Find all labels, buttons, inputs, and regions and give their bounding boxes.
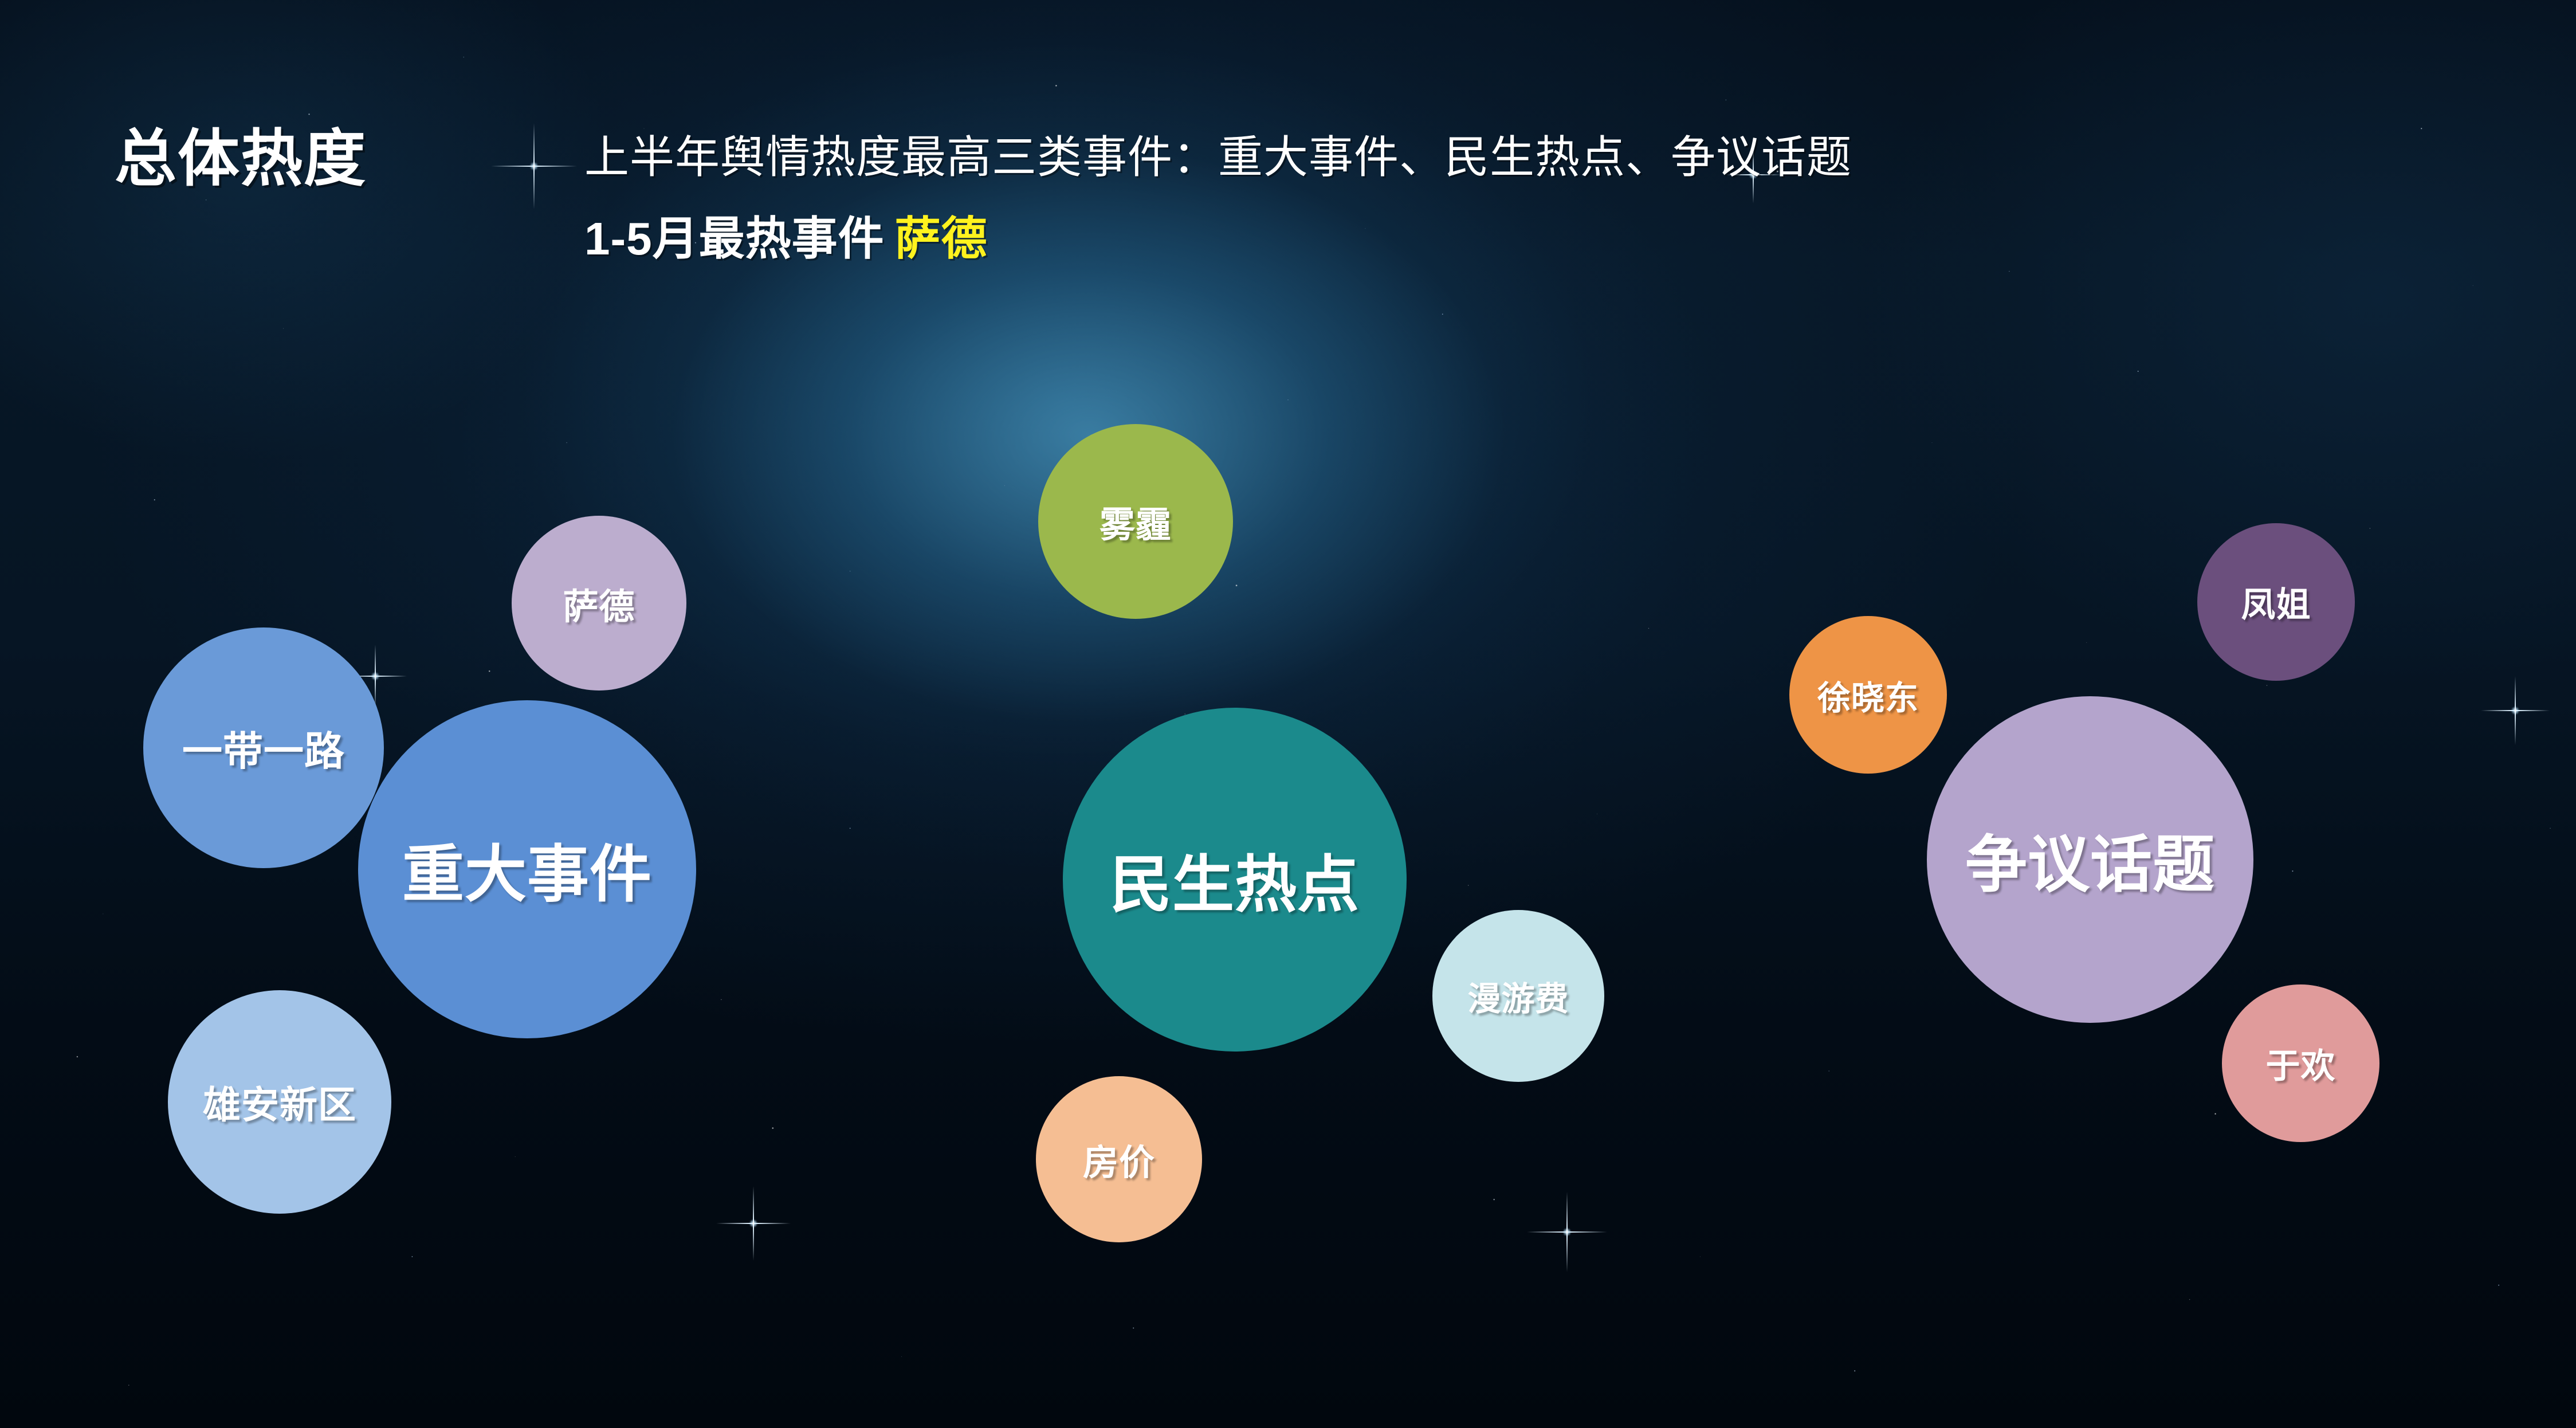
bubble-yidaiyilu[interactable]: 一带一路: [143, 627, 384, 868]
bubble-yuhuan[interactable]: 于欢: [2222, 984, 2379, 1142]
header-subtitle-line2: 1-5月最热事件萨德: [584, 202, 988, 268]
bubble-label: 萨德: [563, 578, 635, 629]
sparkle-star-icon: [716, 1186, 791, 1261]
sparkle-star-icon: [1527, 1192, 1607, 1272]
sparkle-star-icon: [491, 123, 577, 209]
bubble-label: 房价: [1083, 1133, 1155, 1185]
bubble-minshengredian[interactable]: 民生热点: [1063, 708, 1407, 1052]
bubble-manyoufei[interactable]: 漫游费: [1432, 910, 1604, 1082]
starfield-layer-bright: [0, 0, 2576, 1428]
bubble-label: 雾霾: [1099, 496, 1172, 547]
bubble-label: 民生热点: [1110, 835, 1360, 924]
sparkle-star-icon: [2481, 676, 2550, 745]
bubble-label: 雄安新区: [203, 1074, 356, 1129]
header-subtitle-line1: 上半年舆情热度最高三类事件：重大事件、民生热点、争议话题: [584, 121, 1852, 186]
bubble-label: 一带一路: [182, 719, 345, 777]
bubble-label: 于欢: [2266, 1038, 2336, 1088]
slide-canvas: 总体热度 上半年舆情热度最高三类事件：重大事件、民生热点、争议话题 1-5月最热…: [0, 0, 2576, 1428]
bubble-zhengyihuati[interactable]: 争议话题: [1927, 696, 2253, 1023]
bubble-fangjia[interactable]: 房价: [1036, 1076, 1202, 1242]
bubble-fengjie[interactable]: 凤姐: [2197, 523, 2355, 681]
bubble-xionganxinqu[interactable]: 雄安新区: [168, 990, 391, 1214]
bubble-label: 漫游费: [1467, 972, 1569, 1020]
bubble-label: 重大事件: [402, 825, 652, 914]
starfield-layer-mid: [0, 0, 2576, 1428]
starfield-layer-faint: [0, 0, 2576, 1428]
hottest-event-highlight: 萨德: [895, 213, 988, 264]
bubble-sade[interactable]: 萨德: [512, 516, 686, 691]
bubble-label: 争议话题: [1965, 815, 2215, 904]
bubble-wumai[interactable]: 雾霾: [1038, 424, 1233, 619]
hottest-event-label: 1-5月最热事件: [584, 213, 885, 264]
bubble-label: 徐晓东: [1817, 671, 1919, 719]
bubble-label: 凤姐: [2241, 577, 2311, 627]
bubble-zhongdashijian[interactable]: 重大事件: [358, 700, 696, 1038]
page-title: 总体热度: [115, 109, 367, 198]
bubble-xuxiaodong[interactable]: 徐晓东: [1789, 616, 1947, 774]
